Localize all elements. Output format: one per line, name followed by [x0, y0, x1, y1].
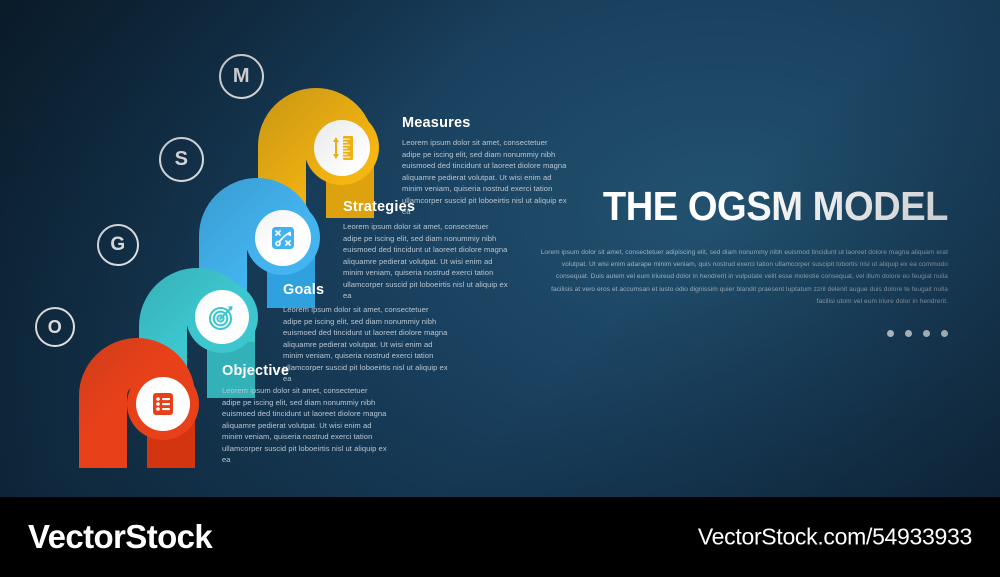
letter-circle-measures-label: M: [233, 65, 250, 88]
vectorstock-url: VectorStock.com/54933933: [698, 524, 972, 551]
watermark-footer: VectorStock VectorStock.com/54933933: [0, 497, 1000, 577]
step-title-goals: Goals: [283, 282, 449, 298]
icon-badge-measures[interactable]: [304, 110, 379, 185]
letter-circle-objective[interactable]: O: [35, 307, 75, 347]
headline-block: THE OGSM MODEL Lorem ipsum dolor sit ame…: [533, 186, 948, 337]
letter-circle-strategies-label: S: [175, 148, 189, 171]
letter-circle-goals-label: G: [110, 234, 125, 256]
letter-circle-strategies[interactable]: S: [159, 137, 204, 182]
letter-circle-objective-label: O: [48, 317, 63, 338]
infographic-canvas: M S G O Measures Leorem ipsum dolor sit …: [0, 0, 1000, 577]
icon-badge-strategies-inner: [255, 210, 311, 266]
target-arrow-icon: [206, 301, 238, 333]
icon-badge-objective-inner: [136, 377, 190, 431]
ruler-measure-icon: [326, 132, 358, 164]
icon-badge-measures-inner: [314, 120, 370, 176]
pagination-dots[interactable]: [533, 330, 948, 337]
step-title-measures: Measures: [402, 115, 568, 131]
letter-circle-measures[interactable]: M: [219, 54, 264, 99]
icon-badge-strategies[interactable]: [245, 200, 320, 275]
icon-badge-goals[interactable]: [186, 281, 258, 353]
pagination-dot[interactable]: [923, 330, 930, 337]
checklist-icon: [147, 388, 179, 420]
step-text-objective: Objective Leorem ipsum dolor sit amet, c…: [222, 363, 388, 466]
step-description-objective: Leorem ipsum dolor sit amet, consectetue…: [222, 385, 388, 466]
artboard: M S G O Measures Leorem ipsum dolor sit …: [0, 0, 1000, 497]
vectorstock-logo: VectorStock: [28, 518, 212, 556]
headline-description: Lorem ipsum dolor sit amet, consectetuer…: [533, 247, 948, 308]
letter-circle-goals[interactable]: G: [97, 224, 139, 266]
step-title-strategies: Strategies: [343, 199, 509, 215]
pagination-dot[interactable]: [905, 330, 912, 337]
icon-badge-goals-inner: [195, 290, 249, 344]
strategy-board-icon: [267, 222, 299, 254]
icon-badge-objective[interactable]: [127, 368, 199, 440]
pagination-dot[interactable]: [941, 330, 948, 337]
page-title: THE OGSM MODEL: [562, 186, 948, 227]
pagination-dot[interactable]: [887, 330, 894, 337]
step-title-objective: Objective: [222, 363, 388, 379]
